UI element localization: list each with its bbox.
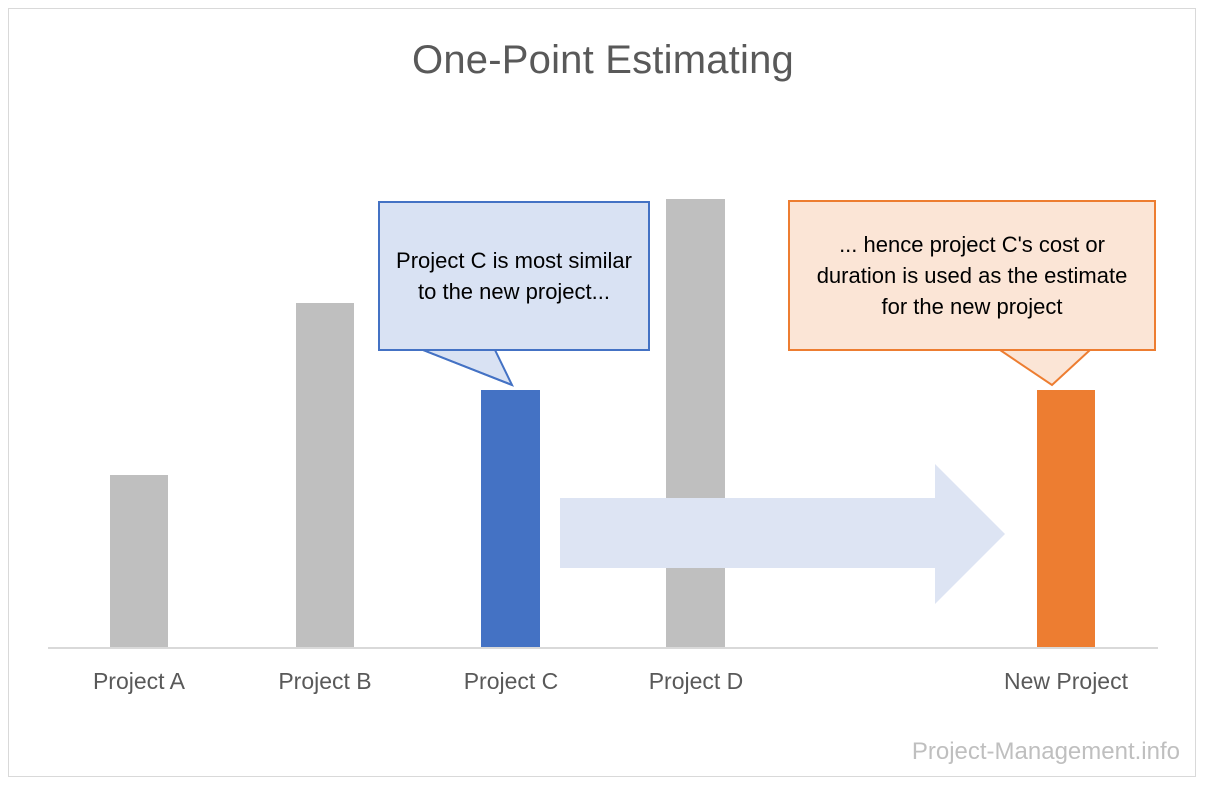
- x-axis-label-project-d: Project D: [616, 668, 776, 695]
- bar-project-c: [481, 390, 540, 647]
- callout-blue-box: Project C is most similar to the new pro…: [378, 201, 650, 351]
- x-axis-label-project-b: Project B: [245, 668, 405, 695]
- plot-area: Project C is most similar to the new pro…: [0, 0, 1206, 787]
- callout-blue-text: Project C is most similar to the new pro…: [394, 245, 634, 307]
- chart-canvas: One-Point Estimating Project C is most s…: [0, 0, 1206, 787]
- bar-project-b: [296, 303, 354, 647]
- bar-project-a: [110, 475, 168, 647]
- watermark: Project-Management.info: [912, 738, 1180, 766]
- transition-arrow-icon: [555, 458, 1010, 610]
- callout-orange-box: ... hence project C's cost or duration i…: [788, 200, 1156, 351]
- bar-new-project: [1037, 390, 1095, 647]
- x-axis-label-new-project: New Project: [986, 668, 1146, 695]
- callout-orange-text: ... hence project C's cost or duration i…: [804, 229, 1140, 323]
- x-axis-label-project-c: Project C: [431, 668, 591, 695]
- x-axis-label-project-a: Project A: [59, 668, 219, 695]
- x-axis-line: [48, 647, 1158, 649]
